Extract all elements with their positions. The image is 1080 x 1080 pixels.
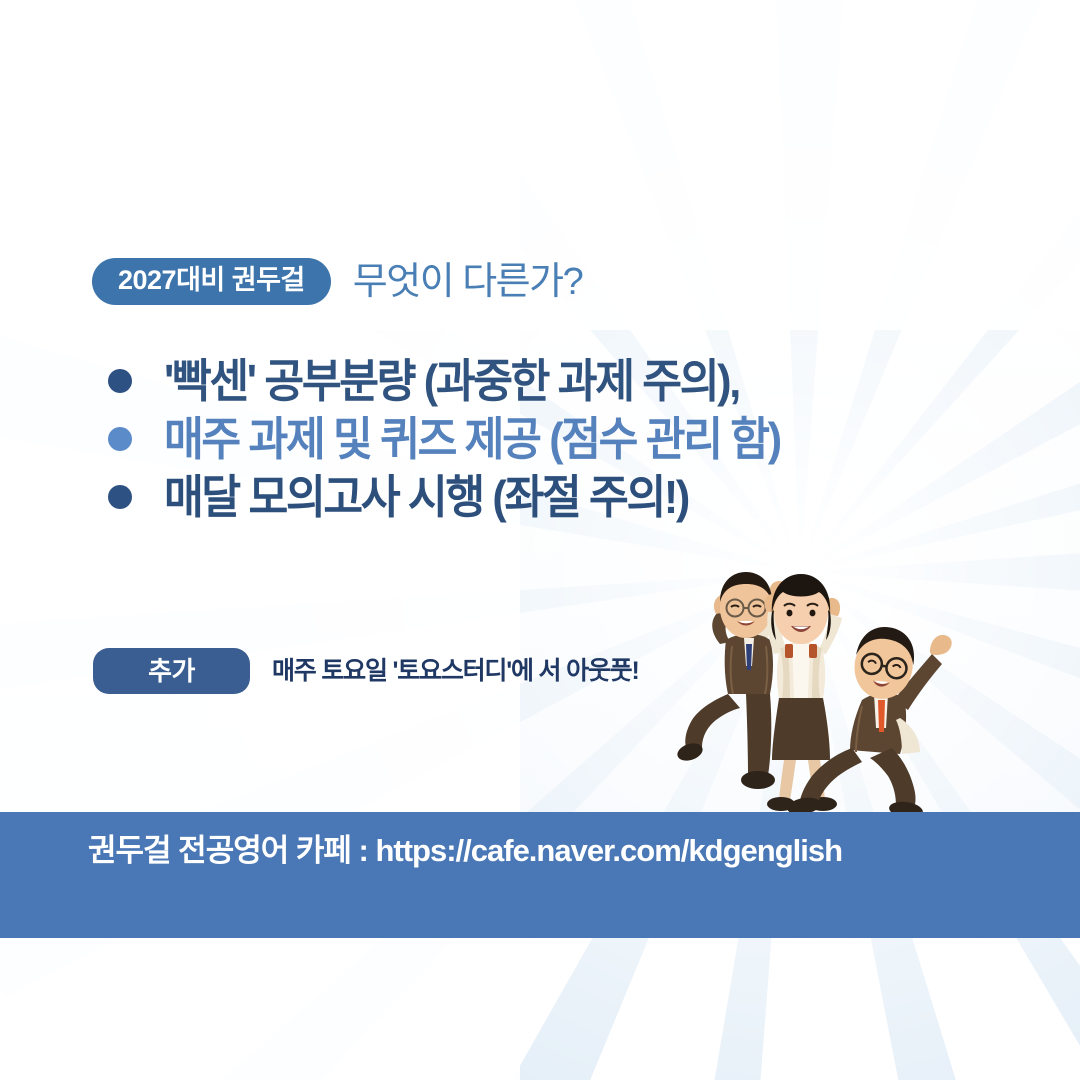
list-item: 매주 과제 및 퀴즈 제공 (점수 관리 함) xyxy=(108,410,1028,468)
bullet-dot-icon xyxy=(108,427,132,451)
list-item-label: 매주 과제 및 퀴즈 제공 (점수 관리 함) xyxy=(164,416,780,462)
bullet-dot-icon xyxy=(108,485,132,509)
list-item: '빡센' 공부분량 (과중한 과제 주의), xyxy=(108,352,1028,410)
heading-row: 2027대비 권두걸 무엇이 다른가? xyxy=(92,258,582,305)
year-badge: 2027대비 권두걸 xyxy=(92,258,331,305)
feature-list: '빡센' 공부분량 (과중한 과제 주의), 매주 과제 및 퀴즈 제공 (점수… xyxy=(108,352,1028,526)
instructors-illustration xyxy=(648,548,988,848)
page-title: 무엇이 다른가? xyxy=(353,263,582,301)
footer-band xyxy=(0,812,1080,938)
extra-badge: 추가 xyxy=(93,648,250,694)
list-item: 매달 모의고사 시행 (좌절 주의!) xyxy=(108,468,1028,526)
extra-note-row: 추가 매주 토요일 '토요스터디'에 서 아웃풋! xyxy=(93,648,639,694)
list-item-label: 매달 모의고사 시행 (좌절 주의!) xyxy=(164,474,688,520)
extra-note-label: 매주 토요일 '토요스터디'에 서 아웃풋! xyxy=(272,659,639,684)
promo-card: 2027대비 권두걸 무엇이 다른가? '빡센' 공부분량 (과중한 과제 주의… xyxy=(0,0,1080,1080)
list-item-label: '빡센' 공부분량 (과중한 과제 주의), xyxy=(164,358,739,404)
bullet-dot-icon xyxy=(108,369,132,393)
footer-cafe-url[interactable]: 권두걸 전공영어 카페 : https://cafe.naver.com/kdg… xyxy=(88,835,842,866)
